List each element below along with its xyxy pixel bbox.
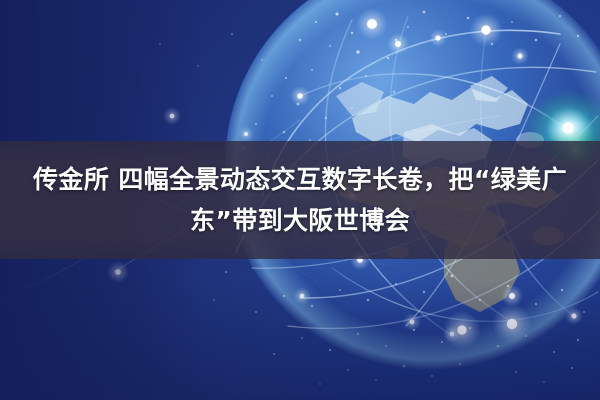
star-particle — [431, 375, 433, 377]
network-node — [290, 86, 310, 106]
star-particle — [325, 117, 327, 119]
star-particle — [339, 87, 342, 90]
star-particle — [285, 77, 287, 79]
star-particle — [507, 285, 510, 288]
star-particle — [497, 345, 499, 347]
star-particle — [213, 299, 215, 301]
star-particle — [336, 13, 339, 16]
star-particle — [577, 339, 579, 341]
headline-line-2: 东”带到大阪世博会 — [190, 200, 410, 241]
star-particle — [283, 295, 285, 297]
network-node — [501, 285, 523, 307]
star-particle — [393, 91, 395, 93]
network-node — [492, 304, 532, 344]
star-particle — [311, 305, 313, 307]
star-particle — [403, 365, 405, 367]
star-particle — [375, 379, 377, 381]
star-particle — [535, 303, 537, 305]
network-node — [443, 325, 461, 343]
banner-image: 传金所 四幅全景动态交互数字长卷，把“绿美广 东”带到大阪世博会 — [0, 0, 600, 400]
network-node — [403, 313, 421, 331]
star-particle — [315, 21, 317, 23]
star-particle — [351, 32, 353, 34]
star-particle — [225, 271, 227, 273]
star-particle — [407, 26, 409, 28]
network-node — [511, 47, 529, 65]
star-particle — [387, 57, 389, 59]
star-particle — [553, 351, 555, 353]
star-particle — [571, 367, 573, 369]
star-particle — [311, 69, 313, 71]
network-node — [107, 261, 129, 283]
star-particle — [283, 131, 286, 134]
star-particle — [231, 33, 233, 35]
star-particle — [459, 363, 461, 365]
star-particle — [445, 33, 447, 35]
star-particle — [319, 383, 321, 385]
network-node — [387, 33, 409, 55]
star-particle — [329, 45, 331, 47]
star-particle — [367, 299, 370, 302]
star-particle — [301, 337, 303, 339]
star-particle — [357, 333, 359, 335]
star-particle — [561, 289, 563, 291]
star-particle — [351, 107, 353, 109]
star-particle — [559, 15, 561, 17]
star-particle — [197, 65, 199, 67]
network-node — [565, 307, 583, 325]
star-particle — [535, 39, 538, 42]
star-particle — [273, 353, 275, 355]
star-particle — [441, 341, 443, 343]
star-particle — [423, 291, 425, 293]
star-particle — [347, 369, 349, 371]
star-particle — [271, 95, 273, 97]
star-particle — [479, 299, 481, 301]
headline-text: 传金所 四幅全景动态交互数字长卷，把“绿美广 东”带到大阪世博会 — [0, 141, 600, 259]
star-particle — [159, 43, 161, 45]
star-particle — [367, 19, 377, 29]
star-particle — [525, 335, 527, 337]
star-particle — [583, 311, 585, 313]
star-particle — [255, 123, 257, 125]
star-particle — [451, 275, 454, 278]
network-node — [356, 8, 388, 40]
star-particle — [365, 75, 367, 77]
headline-line-1: 传金所 四幅全景动态交互数字长卷，把“绿美广 — [33, 159, 567, 200]
star-particle — [413, 329, 415, 331]
star-particle — [423, 11, 426, 14]
star-particle — [339, 289, 341, 291]
star-particle — [395, 283, 397, 285]
star-particle — [577, 35, 579, 37]
star-particle — [255, 311, 257, 313]
star-particle — [385, 345, 387, 347]
star-particle — [469, 327, 472, 330]
star-particle — [297, 103, 300, 106]
star-particle — [467, 17, 470, 20]
star-particle — [491, 43, 493, 45]
network-node — [469, 13, 503, 47]
network-node — [238, 126, 254, 142]
network-node — [443, 311, 481, 349]
star-particle — [261, 59, 263, 61]
network-node — [429, 29, 447, 47]
star-particle — [511, 21, 513, 23]
network-node — [293, 287, 311, 305]
star-particle — [356, 50, 359, 53]
star-particle — [515, 371, 517, 373]
star-particle — [543, 381, 545, 383]
network-node — [163, 107, 181, 125]
star-particle — [329, 349, 331, 351]
star-particle — [299, 39, 301, 41]
star-particle — [395, 39, 398, 42]
